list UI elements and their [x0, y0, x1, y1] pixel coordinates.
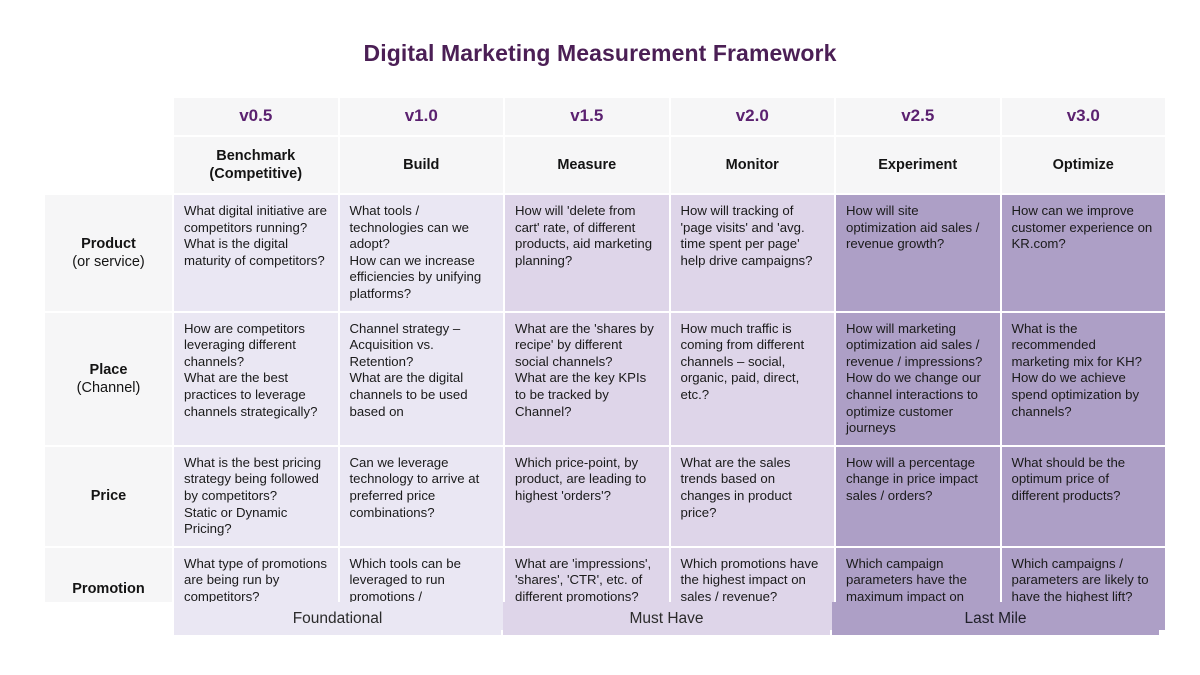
column-stage-label: Monitor: [726, 156, 779, 174]
matrix-corner-bottom: [45, 137, 172, 193]
matrix-cell-line: What are the digital channels to be used…: [350, 370, 494, 420]
matrix-cell-line: What tools / technologies can we adopt?: [350, 203, 494, 253]
matrix-cell-line: How do we change our channel interaction…: [846, 370, 990, 436]
matrix-cell: What tools / technologies can we adopt?H…: [340, 195, 504, 311]
column-stage-label: Optimize: [1053, 156, 1114, 174]
matrix-cell: What are the sales trends based on chang…: [671, 447, 835, 546]
matrix-cell-line: Static or Dynamic Pricing?: [184, 505, 328, 538]
matrix-cell-line: What are the best practices to leverage …: [184, 370, 328, 420]
matrix-cell-line: What are 'impressions', 'shares', 'CTR',…: [515, 556, 659, 606]
column-stage-label: Measure: [557, 156, 616, 174]
tier-band-lastmile: Last Mile: [832, 602, 1159, 635]
tier-band-corner: [45, 602, 172, 635]
tier-band-musthave: Must Have: [503, 602, 830, 635]
matrix-cell-line: How much traffic is coming from differen…: [681, 321, 825, 404]
row-label-place: Place(Channel): [45, 313, 172, 445]
matrix-cell-line: What is the digital maturity of competit…: [184, 236, 328, 269]
matrix-corner-top: [45, 98, 172, 135]
matrix-cell-line: What are the sales trends based on chang…: [681, 455, 825, 521]
matrix-cell: Channel strategy – Acquisition vs. Reten…: [340, 313, 504, 445]
page-title: Digital Marketing Measurement Framework: [0, 40, 1200, 67]
column-stage-optimize: Optimize: [1002, 137, 1166, 193]
matrix-cell-line: Which campaigns / parameters are likely …: [1012, 556, 1156, 606]
row-label-text: Promotion: [72, 580, 145, 598]
matrix-cell-line: How can we improve customer experience o…: [1012, 203, 1156, 253]
column-version-v3-0: v3.0: [1002, 98, 1166, 135]
framework-matrix: v0.5v1.0v1.5v2.0v2.5v3.0Benchmark(Compet…: [45, 98, 1157, 630]
column-version-v2-0: v2.0: [671, 98, 835, 135]
matrix-cell-line: How will a percentage change in price im…: [846, 455, 990, 505]
matrix-cell: What should be the optimum price of diff…: [1002, 447, 1166, 546]
column-version-v1-0: v1.0: [340, 98, 504, 135]
matrix-cell-line: Which price-point, by product, are leadi…: [515, 455, 659, 505]
column-stage-sublabel: (Competitive): [209, 165, 302, 183]
matrix-cell-line: How will 'delete from cart' rate, of dif…: [515, 203, 659, 269]
matrix-cell: How will site optimization aid sales / r…: [836, 195, 1000, 311]
matrix-cell: How will tracking of 'page visits' and '…: [671, 195, 835, 311]
matrix-cell-line: Channel strategy – Acquisition vs. Reten…: [350, 321, 494, 371]
column-stage-monitor: Monitor: [671, 137, 835, 193]
matrix-cell: How much traffic is coming from differen…: [671, 313, 835, 445]
matrix-cell-line: Which promotions have the highest impact…: [681, 556, 825, 606]
column-stage-label: Build: [403, 156, 439, 174]
row-label-text: Price: [91, 487, 126, 505]
tier-band-row: FoundationalMust HaveLast Mile: [45, 602, 1157, 635]
matrix-cell: What is the recommended marketing mix fo…: [1002, 313, 1166, 445]
matrix-cell: What is the best pricing strategy being …: [174, 447, 338, 546]
matrix-cell: How will a percentage change in price im…: [836, 447, 1000, 546]
matrix-cell: How are competitors leveraging different…: [174, 313, 338, 445]
row-label-price: Price: [45, 447, 172, 546]
matrix-cell: Which price-point, by product, are leadi…: [505, 447, 669, 546]
row-label-text: Product: [81, 235, 136, 253]
row-label-text: Place: [90, 361, 128, 379]
matrix-cell-line: What is the best pricing strategy being …: [184, 455, 328, 505]
column-stage-measure: Measure: [505, 137, 669, 193]
framework-slide: Digital Marketing Measurement Framework …: [0, 0, 1200, 675]
matrix-cell: What are the 'shares by recipe' by diffe…: [505, 313, 669, 445]
tier-band-foundational: Foundational: [174, 602, 501, 635]
matrix-cell: Can we leverage technology to arrive at …: [340, 447, 504, 546]
matrix-cell-line: What are the 'shares by recipe' by diffe…: [515, 321, 659, 371]
column-stage-build: Build: [340, 137, 504, 193]
matrix-cell-line: What are the key KPIs to be tracked by C…: [515, 370, 659, 420]
column-stage-experiment: Experiment: [836, 137, 1000, 193]
matrix-cell-line: What digital initiative are competitors …: [184, 203, 328, 236]
matrix-cell-line: How are competitors leveraging different…: [184, 321, 328, 371]
matrix-cell-line: How will site optimization aid sales / r…: [846, 203, 990, 253]
row-label-product: Product(or service): [45, 195, 172, 311]
matrix-cell-line: What should be the optimum price of diff…: [1012, 455, 1156, 505]
matrix-cell-line: How will tracking of 'page visits' and '…: [681, 203, 825, 269]
column-stage-label: Experiment: [878, 156, 957, 174]
column-version-v2-5: v2.5: [836, 98, 1000, 135]
matrix-cell: How will marketing optimization aid sale…: [836, 313, 1000, 445]
matrix-cell-line: What is the recommended marketing mix fo…: [1012, 321, 1156, 371]
matrix-cell-line: How do we achieve spend optimization by …: [1012, 370, 1156, 420]
matrix-cell: What digital initiative are competitors …: [174, 195, 338, 311]
column-stage-label: Benchmark: [216, 147, 295, 165]
matrix-cell-line: What type of promotions are being run by…: [184, 556, 328, 606]
row-label-sublabel: (Channel): [77, 379, 141, 397]
matrix-cell-line: Can we leverage technology to arrive at …: [350, 455, 494, 521]
column-version-v1-5: v1.5: [505, 98, 669, 135]
row-label-sublabel: (or service): [72, 253, 145, 271]
matrix-cell: How will 'delete from cart' rate, of dif…: [505, 195, 669, 311]
matrix-cell: How can we improve customer experience o…: [1002, 195, 1166, 311]
matrix-cell-line: How can we increase efficiencies by unif…: [350, 253, 494, 303]
matrix-cell-line: How will marketing optimization aid sale…: [846, 321, 990, 371]
column-version-v0-5: v0.5: [174, 98, 338, 135]
column-stage-benchmark: Benchmark(Competitive): [174, 137, 338, 193]
